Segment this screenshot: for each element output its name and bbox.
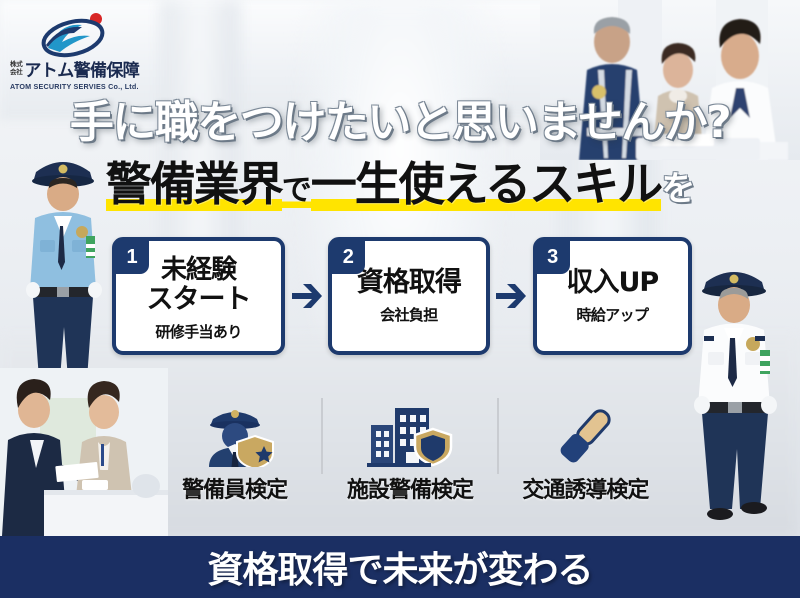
- buildings-shield-icon: [365, 405, 455, 467]
- traffic-baton-icon: [542, 405, 628, 467]
- headline-particle-wo: を: [661, 169, 694, 209]
- certification-label: 施設警備検定: [347, 472, 473, 504]
- headline-line-2: 警備業界で一生使えるスキルを: [0, 158, 800, 222]
- vertical-divider: [497, 398, 499, 474]
- certifications-row: 警備員検定: [150, 392, 670, 504]
- security-guard-shield-icon: [193, 405, 277, 467]
- step-card-3[interactable]: 3 収入UP 時給アップ: [533, 237, 692, 355]
- logo-prefix: 株式会社: [10, 61, 22, 76]
- step-number-badge: 3: [536, 240, 570, 274]
- vertical-divider: [321, 398, 323, 474]
- headline-keyword-skill: 一生使えるスキル: [311, 157, 662, 211]
- step-subtitle: 時給アップ: [576, 304, 648, 325]
- arrow-right-icon: [490, 281, 533, 311]
- bottom-banner: 資格取得で未来が変わる: [0, 536, 800, 598]
- step-number-badge: 1: [115, 240, 149, 274]
- photo-reception-women: [0, 368, 168, 536]
- banner-text: 資格取得で未来が変わる: [207, 541, 592, 593]
- logo-english-name: ATOM SECURITY SERVIES Co., Ltd.: [10, 82, 142, 91]
- steps-row: 1 未経験 スタート 研修手当あり 2 資格取得 会社負担 3 収入UP 時給ア…: [112, 232, 692, 360]
- step-title: 資格取得: [357, 268, 461, 298]
- advertisement-banner: 株式会社 アトム警備保障 ATOM SECURITY SERVIES Co., …: [0, 0, 800, 598]
- step-subtitle: 会社負担: [380, 304, 438, 325]
- certification-item-facility[interactable]: 施設警備検定: [325, 405, 494, 504]
- certification-label: 警備員検定: [182, 472, 287, 504]
- headline-keyword-industry: 警備業界: [106, 157, 282, 211]
- step-card-1[interactable]: 1 未経験 スタート 研修手当あり: [112, 237, 285, 355]
- certification-item-traffic[interactable]: 交通誘導検定: [501, 405, 670, 504]
- step-title: 収入UP: [567, 268, 659, 298]
- step-subtitle: 研修手当あり: [155, 321, 241, 342]
- headline-line-1: 手に職をつけたいと思いませんか?: [0, 96, 800, 150]
- certification-label: 交通誘導検定: [522, 472, 648, 504]
- headline-block: 手に職をつけたいと思いませんか? 警備業界で一生使えるスキルを: [0, 96, 800, 222]
- certification-item-guard[interactable]: 警備員検定: [150, 405, 319, 504]
- atom-swoosh-logo-icon: [36, 12, 114, 58]
- headline-particle-de: で: [282, 173, 311, 208]
- step-title-line2: スタート: [147, 285, 251, 315]
- step-number-badge: 2: [331, 240, 365, 274]
- arrow-right-icon: [285, 281, 328, 311]
- company-logo: 株式会社 アトム警備保障 ATOM SECURITY SERVIES Co., …: [8, 12, 143, 90]
- step-title: 未経験: [161, 256, 236, 285]
- logo-company-name: アトム警備保障: [24, 56, 139, 81]
- step-card-2[interactable]: 2 資格取得 会社負担: [328, 237, 489, 355]
